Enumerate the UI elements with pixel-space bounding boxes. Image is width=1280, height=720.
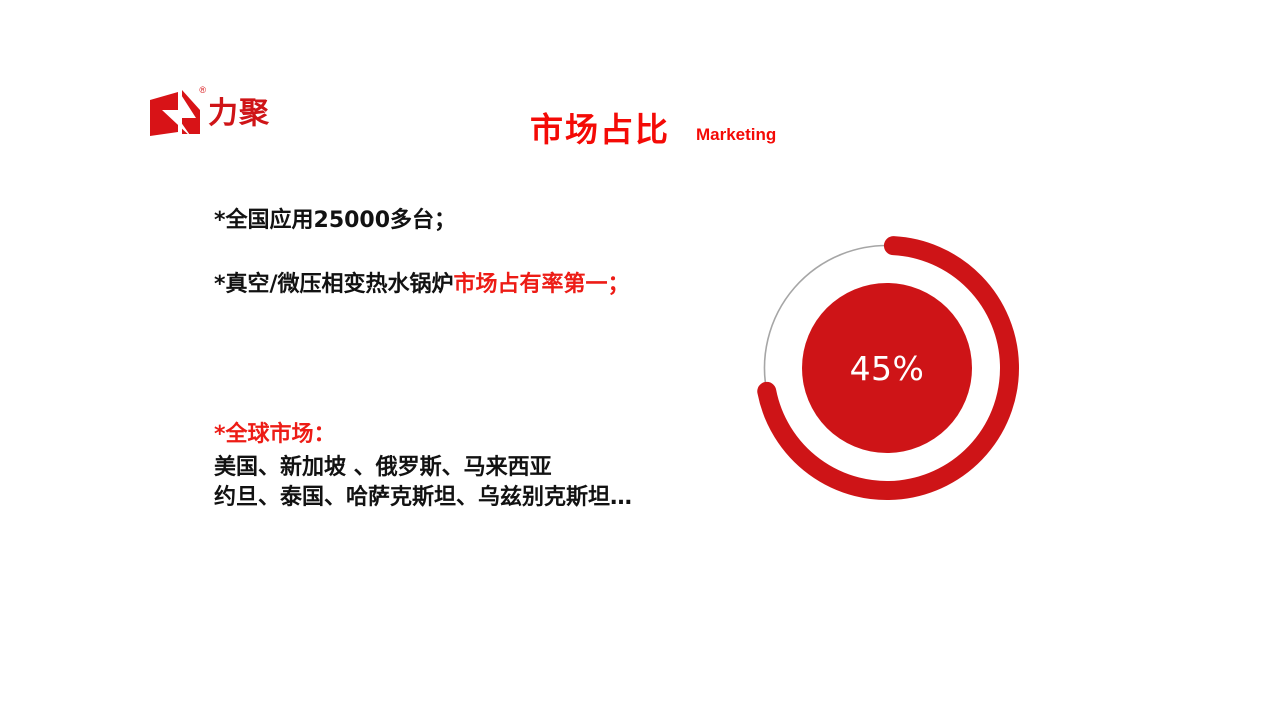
page-title: 市场占比 bbox=[530, 110, 670, 150]
bullet-item-marketshare: *真空/微压相变热水锅炉市场占有率第一； bbox=[214, 268, 684, 302]
global-market-line-1: 美国、新加坡 、俄罗斯、马来西亚 bbox=[214, 453, 632, 483]
global-market-heading: *全球市场： bbox=[214, 418, 632, 451]
global-market-block: *全球市场： 美国、新加坡 、俄罗斯、马来西亚 约旦、泰国、哈萨克斯坦、乌兹别克… bbox=[214, 418, 632, 514]
liju-lightning-mark-icon: ® bbox=[148, 88, 204, 140]
bullet-lead-text: *真空/微压相变热水锅炉 bbox=[214, 272, 454, 297]
page-subtitle: Marketing bbox=[696, 125, 776, 145]
slide-canvas: ® 力聚 市场占比 Marketing *全国应用25000多台； *真空/微压… bbox=[0, 0, 1280, 720]
logo-wordmark: 力聚 bbox=[208, 99, 270, 129]
bullet-item-domestic: *全国应用25000多台； bbox=[214, 204, 684, 238]
market-share-donut-chart: 45% bbox=[745, 226, 1029, 510]
registered-trademark-icon: ® bbox=[199, 86, 206, 95]
donut-inner-disc bbox=[802, 283, 972, 453]
global-market-line-2: 约旦、泰国、哈萨克斯坦、乌兹别克斯坦… bbox=[214, 483, 632, 513]
bullet-highlight-text: 市场占有率第一； bbox=[454, 272, 630, 297]
company-logo: ® 力聚 bbox=[148, 86, 270, 142]
slide-header: 市场占比 Marketing bbox=[530, 110, 776, 150]
bullet-list: *全国应用25000多台； *真空/微压相变热水锅炉市场占有率第一； bbox=[214, 204, 684, 302]
